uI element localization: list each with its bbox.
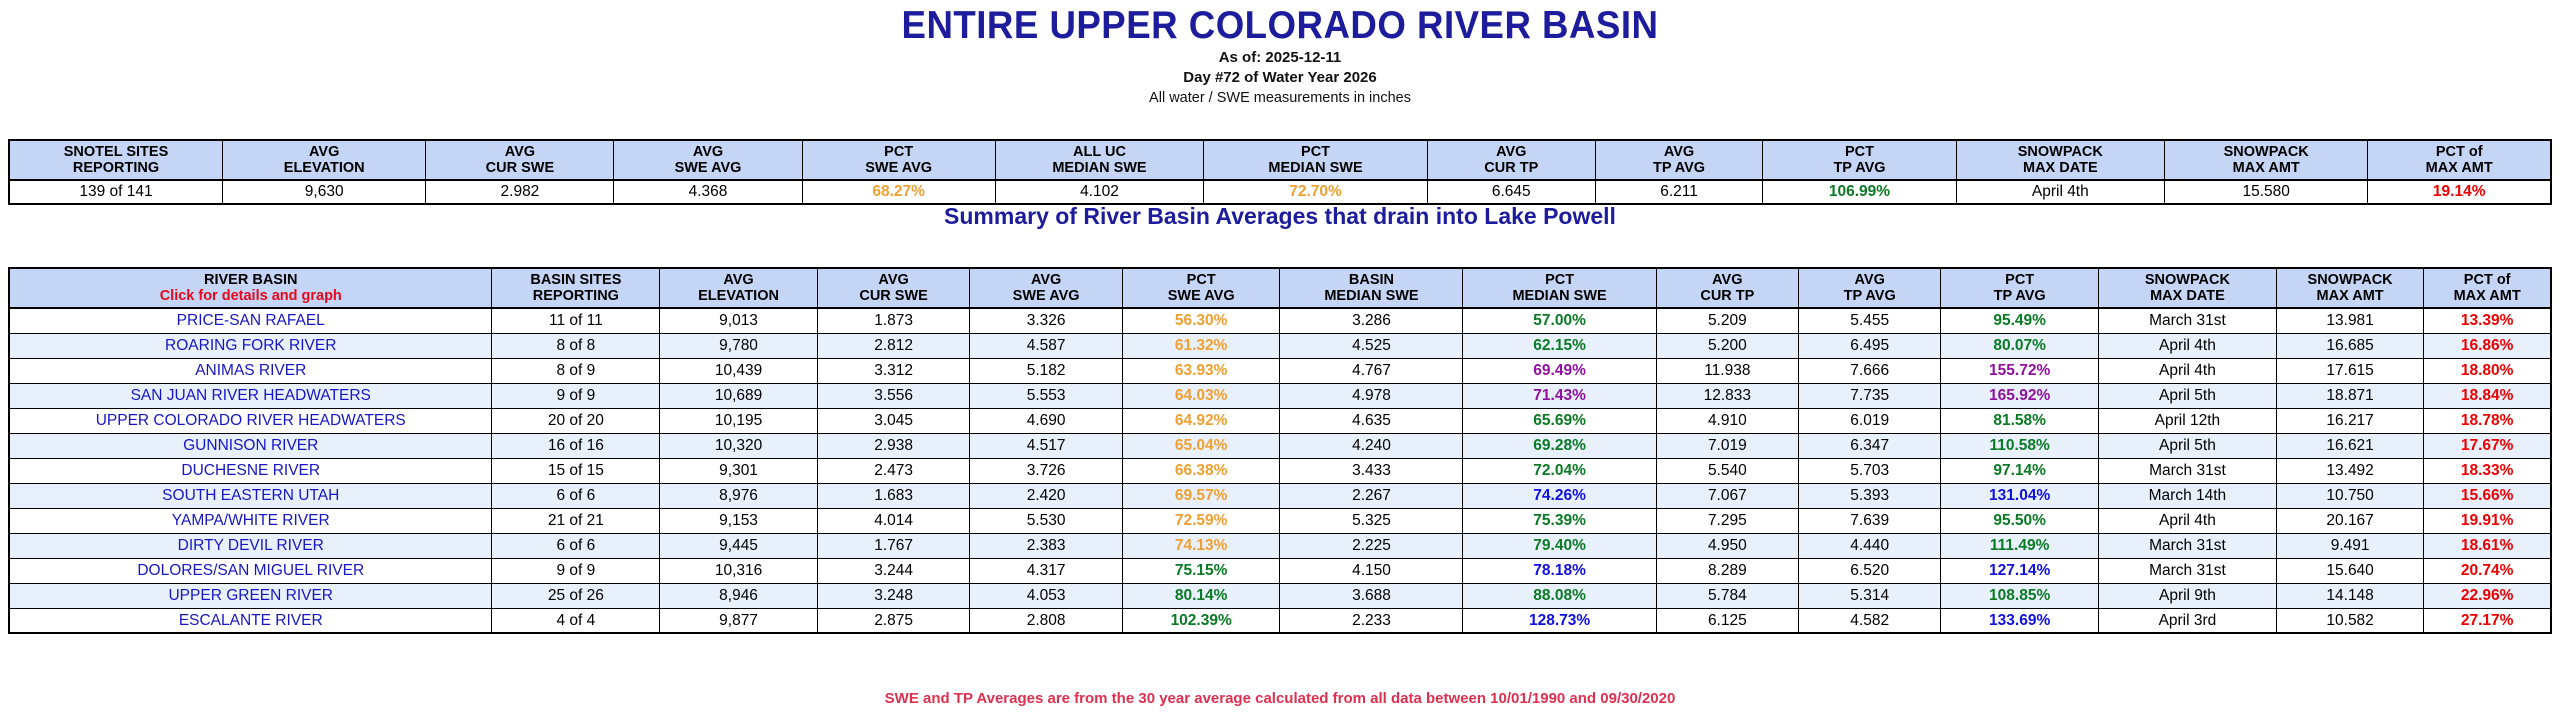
basin-cell-avg-cur-tp: 6.125 — [1656, 608, 1798, 633]
basin-col-pct-swe-avg-line-1: PCT — [1125, 272, 1278, 288]
basin-cell-pct-tp-avg-value: 108.85% — [1989, 587, 2050, 604]
summary-cell-avg-cur-swe-value: 2.982 — [501, 183, 540, 200]
basin-cell-pct-tp-avg: 81.58% — [1941, 408, 2099, 433]
basin-cell-avg-swe-avg: 3.326 — [970, 308, 1123, 333]
basin-cell-basin-sites-reporting-value: 6 of 6 — [556, 487, 595, 504]
basin-cell-pct-median-swe: 69.49% — [1463, 358, 1656, 383]
basin-cell-pct-swe-avg-value: 69.57% — [1175, 487, 1228, 504]
basin-cell-pct-median-swe: 71.43% — [1463, 383, 1656, 408]
basin-cell-avg-cur-swe: 3.248 — [817, 583, 970, 608]
basin-link[interactable]: DOLORES/SAN MIGUEL RIVER — [137, 562, 364, 579]
basin-cell-snowpack-max-date-value: March 31st — [2149, 462, 2226, 479]
summary-col-avg-tp-avg: AVGTP AVG — [1595, 140, 1763, 180]
basin-cell-pct-median-swe-value: 69.49% — [1533, 362, 1586, 379]
basin-col-pct-swe-avg: PCTSWE AVG — [1122, 268, 1280, 308]
summary-col-all-uc-median-swe-line-2: MEDIAN SWE — [998, 160, 1201, 176]
basin-cell-avg-swe-avg: 2.420 — [970, 483, 1123, 508]
table-row[interactable]: DIRTY DEVIL RIVER6 of 69,4451.7672.38374… — [9, 533, 2551, 558]
summary-col-avg-elevation: AVGELEVATION — [223, 140, 426, 180]
basin-col-avg-cur-swe: AVGCUR SWE — [817, 268, 970, 308]
basin-cell-avg-elevation-value: 10,439 — [715, 362, 762, 379]
basin-link[interactable]: DUCHESNE RIVER — [181, 462, 320, 479]
basin-cell-snowpack-max-date-value: March 14th — [2149, 487, 2227, 504]
summary-col-snotel-sites-reporting-line-2: REPORTING — [12, 160, 220, 176]
basin-cell-avg-tp-avg: 5.703 — [1799, 458, 1941, 483]
basin-cell-basin-median-swe: 2.225 — [1280, 533, 1463, 558]
basin-cell-avg-cur-swe: 3.556 — [817, 383, 970, 408]
basin-cell-snowpack-max-date: March 31st — [2098, 533, 2276, 558]
basin-cell-basin-median-swe: 4.767 — [1280, 358, 1463, 383]
basin-cell-pct-median-swe-value: 62.15% — [1533, 337, 1586, 354]
basin-name-cell[interactable]: UPPER COLORADO RIVER HEADWATERS — [9, 408, 492, 433]
basin-cell-snowpack-max-date: April 3rd — [2098, 608, 2276, 633]
basin-cell-pct-of-max-amt-value: 18.80% — [2461, 362, 2514, 379]
summary-col-avg-swe-avg-line-2: SWE AVG — [616, 160, 799, 176]
summary-cell-snowpack-max-amt-value: 15.580 — [2243, 183, 2290, 200]
table-row[interactable]: UPPER GREEN RIVER25 of 268,9463.2484.053… — [9, 583, 2551, 608]
basin-cell-pct-tp-avg: 165.92% — [1941, 383, 2099, 408]
basin-cell-snowpack-max-amt-value: 15.640 — [2326, 562, 2373, 579]
basin-cell-pct-swe-avg: 74.13% — [1122, 533, 1280, 558]
basin-cell-snowpack-max-amt-value: 13.981 — [2326, 312, 2373, 329]
basin-cell-snowpack-max-date: April 4th — [2098, 358, 2276, 383]
summary-cell-avg-tp-avg: 6.211 — [1595, 180, 1763, 204]
basin-cell-basin-median-swe: 2.267 — [1280, 483, 1463, 508]
basin-cell-avg-cur-swe: 3.312 — [817, 358, 970, 383]
basin-cell-avg-tp-avg-value: 5.703 — [1850, 462, 1889, 479]
basin-cell-snowpack-max-date: March 31st — [2098, 308, 2276, 333]
basin-col-avg-tp-avg-line-1: AVG — [1801, 272, 1938, 288]
basin-name-cell[interactable]: SOUTH EASTERN UTAH — [9, 483, 492, 508]
basin-cell-pct-swe-avg-value: 65.04% — [1175, 437, 1228, 454]
basin-cell-pct-of-max-amt: 18.80% — [2424, 358, 2551, 383]
basin-cell-avg-elevation-value: 9,013 — [719, 312, 758, 329]
basin-cell-basin-sites-reporting: 20 of 20 — [492, 408, 660, 433]
basin-cell-avg-cur-swe-value: 3.244 — [874, 562, 913, 579]
basin-name-cell[interactable]: GUNNISON RIVER — [9, 433, 492, 458]
click-for-details-note: Click for details and graph — [12, 288, 489, 304]
basin-cell-avg-cur-tp: 5.540 — [1656, 458, 1798, 483]
basin-cell-pct-of-max-amt: 13.39% — [2424, 308, 2551, 333]
basin-cell-pct-tp-avg-value: 80.07% — [1993, 337, 2046, 354]
summary-col-avg-cur-tp-line-2: CUR TP — [1430, 160, 1593, 176]
basin-cell-basin-median-swe: 5.325 — [1280, 508, 1463, 533]
basin-cell-avg-cur-swe-value: 4.014 — [874, 512, 913, 529]
table-row[interactable]: PRICE-SAN RAFAEL11 of 119,0131.8733.3265… — [9, 308, 2551, 333]
table-row[interactable]: DOLORES/SAN MIGUEL RIVER9 of 910,3163.24… — [9, 558, 2551, 583]
basin-name-cell[interactable]: ROARING FORK RIVER — [9, 333, 492, 358]
basin-cell-avg-tp-avg-value: 7.735 — [1850, 387, 1889, 404]
basin-cell-avg-swe-avg: 4.517 — [970, 433, 1123, 458]
basin-col-pct-median-swe-line-1: PCT — [1465, 272, 1653, 288]
table-row[interactable]: SOUTH EASTERN UTAH6 of 68,9761.6832.4206… — [9, 483, 2551, 508]
basin-cell-avg-swe-avg-value: 4.517 — [1027, 437, 1066, 454]
basin-cell-avg-cur-swe: 4.014 — [817, 508, 970, 533]
basin-col-avg-cur-tp: AVGCUR TP — [1656, 268, 1798, 308]
summary-col-pct-of-max-amt: PCT ofMAX AMT — [2368, 140, 2551, 180]
basin-cell-pct-of-max-amt: 19.91% — [2424, 508, 2551, 533]
summary-cell-avg-cur-tp: 6.645 — [1427, 180, 1595, 204]
basin-cell-basin-sites-reporting-value: 15 of 15 — [548, 462, 604, 479]
table-row[interactable]: YAMPA/WHITE RIVER21 of 219,1534.0145.530… — [9, 508, 2551, 533]
basin-cell-pct-of-max-amt-value: 27.17% — [2461, 612, 2514, 629]
basin-cell-basin-sites-reporting: 8 of 8 — [492, 333, 660, 358]
basin-col-snowpack-max-amt-line-1: SNOWPACK — [2279, 272, 2421, 288]
summary-col-snotel-sites-reporting: SNOTEL SITESREPORTING — [9, 140, 223, 180]
basin-col-pct-of-max-amt: PCT ofMAX AMT — [2424, 268, 2551, 308]
basin-cell-pct-tp-avg: 111.49% — [1941, 533, 2099, 558]
basin-col-pct-of-max-amt-line-2: MAX AMT — [2426, 288, 2548, 304]
basin-cell-avg-swe-avg-value: 5.553 — [1027, 387, 1066, 404]
basin-cell-avg-cur-tp-value: 5.784 — [1708, 587, 1747, 604]
summary-col-avg-tp-avg-line-2: TP AVG — [1598, 160, 1761, 176]
basin-cell-avg-tp-avg: 4.440 — [1799, 533, 1941, 558]
basin-cell-pct-median-swe: 69.28% — [1463, 433, 1656, 458]
basin-cell-pct-median-swe-value: 128.73% — [1529, 612, 1590, 629]
basin-col-avg-tp-avg-line-2: TP AVG — [1801, 288, 1938, 304]
basin-cell-pct-of-max-amt-value: 18.61% — [2461, 537, 2514, 554]
basin-cell-basin-sites-reporting-value: 11 of 11 — [549, 312, 603, 329]
basin-cell-snowpack-max-date: April 12th — [2098, 408, 2276, 433]
basin-cell-snowpack-max-amt: 9.491 — [2276, 533, 2423, 558]
basin-cell-avg-cur-tp-value: 4.910 — [1708, 412, 1747, 429]
table-row[interactable]: UPPER COLORADO RIVER HEADWATERS20 of 201… — [9, 408, 2551, 433]
basin-cell-pct-of-max-amt: 16.86% — [2424, 333, 2551, 358]
basin-cell-avg-swe-avg: 3.726 — [970, 458, 1123, 483]
basin-cell-avg-cur-tp-value: 7.067 — [1708, 487, 1747, 504]
summary-table-head: SNOTEL SITESREPORTINGAVGELEVATIONAVGCUR … — [9, 140, 2551, 180]
basin-cell-pct-median-swe: 74.26% — [1463, 483, 1656, 508]
basin-col-pct-tp-avg-line-1: PCT — [1943, 272, 2096, 288]
basin-cell-pct-tp-avg: 133.69% — [1941, 608, 2099, 633]
basin-cell-basin-sites-reporting: 16 of 16 — [492, 433, 660, 458]
basin-cell-basin-sites-reporting: 15 of 15 — [492, 458, 660, 483]
basin-name-cell[interactable]: ANIMAS RIVER — [9, 358, 492, 383]
basin-cell-pct-tp-avg: 155.72% — [1941, 358, 2099, 383]
basin-cell-avg-tp-avg: 5.455 — [1799, 308, 1941, 333]
basin-cell-pct-of-max-amt: 15.66% — [2424, 483, 2551, 508]
basin-cell-snowpack-max-amt-value: 17.615 — [2326, 362, 2373, 379]
basin-cell-avg-cur-tp-value: 8.289 — [1708, 562, 1747, 579]
table-row[interactable]: ANIMAS RIVER8 of 910,4393.3125.18263.93%… — [9, 358, 2551, 383]
basin-cell-snowpack-max-amt-value: 14.148 — [2326, 587, 2373, 604]
basin-cell-avg-cur-tp-value: 5.209 — [1708, 312, 1747, 329]
basin-table: RIVER BASINClick for details and graphBA… — [8, 267, 2552, 634]
table-row[interactable]: GUNNISON RIVER16 of 1610,3202.9384.51765… — [9, 433, 2551, 458]
basin-name-cell[interactable]: DUCHESNE RIVER — [9, 458, 492, 483]
basin-cell-snowpack-max-amt: 13.492 — [2276, 458, 2423, 483]
basin-cell-avg-elevation-value: 9,153 — [719, 512, 758, 529]
basin-cell-snowpack-max-date: April 5th — [2098, 383, 2276, 408]
basin-cell-basin-median-swe-value: 2.267 — [1352, 487, 1391, 504]
basin-cell-pct-tp-avg-value: 81.58% — [1993, 412, 2046, 429]
basin-link[interactable]: UPPER GREEN RIVER — [168, 587, 333, 604]
basin-cell-avg-cur-swe-value: 1.767 — [874, 537, 913, 554]
basin-cell-snowpack-max-amt: 16.621 — [2276, 433, 2423, 458]
table-row[interactable]: ESCALANTE RIVER4 of 49,8772.8752.808102.… — [9, 608, 2551, 633]
basin-cell-avg-swe-avg: 5.182 — [970, 358, 1123, 383]
basin-cell-snowpack-max-amt-value: 10.750 — [2326, 487, 2373, 504]
summary-col-avg-cur-swe-line-1: AVG — [428, 144, 611, 160]
basin-cell-pct-swe-avg-value: 75.15% — [1175, 562, 1228, 579]
basin-cell-basin-median-swe-value: 3.286 — [1352, 312, 1391, 329]
basin-cell-basin-sites-reporting: 8 of 9 — [492, 358, 660, 383]
basin-cell-avg-cur-tp: 4.910 — [1656, 408, 1798, 433]
basin-cell-pct-swe-avg: 102.39% — [1122, 608, 1280, 633]
basin-cell-avg-cur-swe: 2.938 — [817, 433, 970, 458]
basin-cell-avg-cur-tp-value: 7.295 — [1708, 512, 1747, 529]
basin-link[interactable]: GUNNISON RIVER — [183, 437, 318, 454]
basin-cell-pct-of-max-amt: 18.84% — [2424, 383, 2551, 408]
basin-cell-avg-tp-avg: 7.735 — [1799, 383, 1941, 408]
basin-cell-avg-cur-swe: 2.812 — [817, 333, 970, 358]
basin-cell-avg-elevation-value: 8,946 — [719, 587, 758, 604]
basin-cell-basin-median-swe: 3.688 — [1280, 583, 1463, 608]
summary-cell-pct-swe-avg-value: 68.27% — [872, 183, 925, 200]
basin-name-cell[interactable]: ESCALANTE RIVER — [9, 608, 492, 633]
basin-col-pct-median-swe: PCTMEDIAN SWE — [1463, 268, 1656, 308]
basin-cell-avg-swe-avg-value: 4.690 — [1027, 412, 1066, 429]
basin-cell-avg-cur-swe: 2.875 — [817, 608, 970, 633]
summary-cell-pct-tp-avg-value: 106.99% — [1829, 183, 1890, 200]
basin-cell-pct-median-swe: 65.69% — [1463, 408, 1656, 433]
basin-cell-avg-tp-avg-value: 6.347 — [1850, 437, 1889, 454]
basin-cell-pct-median-swe-value: 57.00% — [1533, 312, 1586, 329]
basin-cell-avg-elevation: 9,013 — [660, 308, 818, 333]
basin-cell-pct-median-swe-value: 69.28% — [1533, 437, 1586, 454]
basin-cell-basin-median-swe-value: 3.433 — [1352, 462, 1391, 479]
summary-col-pct-tp-avg-line-1: PCT — [1765, 144, 1953, 160]
basin-cell-pct-tp-avg: 95.49% — [1941, 308, 2099, 333]
basin-cell-basin-median-swe-value: 4.767 — [1352, 362, 1391, 379]
basin-cell-avg-elevation: 10,195 — [660, 408, 818, 433]
table-row[interactable]: DUCHESNE RIVER15 of 159,3012.4733.72666.… — [9, 458, 2551, 483]
basin-cell-avg-cur-swe-value: 2.938 — [874, 437, 913, 454]
basin-cell-avg-elevation: 9,780 — [660, 333, 818, 358]
basin-cell-basin-median-swe-value: 2.225 — [1352, 537, 1391, 554]
basin-cell-avg-elevation: 9,445 — [660, 533, 818, 558]
basin-link[interactable]: UPPER COLORADO RIVER HEADWATERS — [96, 412, 406, 429]
summary-col-avg-swe-avg: AVGSWE AVG — [614, 140, 802, 180]
basin-link[interactable]: ESCALANTE RIVER — [179, 612, 323, 629]
basin-cell-pct-of-max-amt: 18.61% — [2424, 533, 2551, 558]
basin-col-avg-elevation-line-1: AVG — [662, 272, 815, 288]
basin-cell-avg-swe-avg: 5.553 — [970, 383, 1123, 408]
basin-cell-avg-swe-avg: 4.587 — [970, 333, 1123, 358]
basin-cell-basin-median-swe-value: 4.978 — [1352, 387, 1391, 404]
summary-col-all-uc-median-swe: ALL UCMEDIAN SWE — [995, 140, 1203, 180]
basin-cell-avg-elevation: 10,316 — [660, 558, 818, 583]
basin-cell-pct-of-max-amt: 18.78% — [2424, 408, 2551, 433]
basin-cell-avg-swe-avg: 4.317 — [970, 558, 1123, 583]
basin-cell-avg-cur-swe-value: 2.875 — [874, 612, 913, 629]
basin-cell-avg-tp-avg-value: 5.314 — [1850, 587, 1889, 604]
basin-cell-pct-swe-avg: 64.92% — [1122, 408, 1280, 433]
summary-col-snotel-sites-reporting-line-1: SNOTEL SITES — [12, 144, 220, 160]
basin-col-snowpack-max-date: SNOWPACKMAX DATE — [2098, 268, 2276, 308]
basin-cell-snowpack-max-date-value: March 31st — [2149, 537, 2226, 554]
basin-cell-basin-sites-reporting-value: 6 of 6 — [556, 537, 595, 554]
summary-cell-pct-tp-avg: 106.99% — [1763, 180, 1956, 204]
basin-cell-avg-tp-avg: 7.666 — [1799, 358, 1941, 383]
basin-col-avg-swe-avg-line-1: AVG — [972, 272, 1120, 288]
page-root: ENTIRE UPPER COLORADO RIVER BASIN As of:… — [0, 0, 2560, 720]
basin-col-basin-median-swe: BASINMEDIAN SWE — [1280, 268, 1463, 308]
summary-cell-all-uc-median-swe-value: 4.102 — [1080, 183, 1119, 200]
basin-cell-pct-swe-avg-value: 72.59% — [1175, 512, 1228, 529]
basin-name-cell[interactable]: PRICE-SAN RAFAEL — [9, 308, 492, 333]
basin-cell-pct-swe-avg-value: 74.13% — [1175, 537, 1228, 554]
basin-cell-pct-median-swe: 72.04% — [1463, 458, 1656, 483]
basin-cell-avg-cur-tp-value: 11.938 — [1704, 362, 1750, 379]
basin-cell-pct-median-swe: 57.00% — [1463, 308, 1656, 333]
summary-col-avg-swe-avg-line-1: AVG — [616, 144, 799, 160]
basin-link[interactable]: DIRTY DEVIL RIVER — [178, 537, 324, 554]
summary-col-avg-cur-tp: AVGCUR TP — [1427, 140, 1595, 180]
basin-cell-basin-median-swe: 3.286 — [1280, 308, 1463, 333]
basin-header-row: RIVER BASINClick for details and graphBA… — [9, 268, 2551, 308]
basin-link[interactable]: ANIMAS RIVER — [195, 362, 306, 379]
title-block: ENTIRE UPPER COLORADO RIVER BASIN As of:… — [0, 0, 2560, 107]
basin-name-cell[interactable]: DOLORES/SAN MIGUEL RIVER — [9, 558, 492, 583]
basin-name-cell[interactable]: SAN JUAN RIVER HEADWATERS — [9, 383, 492, 408]
basin-cell-pct-tp-avg: 127.14% — [1941, 558, 2099, 583]
basin-cell-pct-of-max-amt: 22.96% — [2424, 583, 2551, 608]
basin-cell-snowpack-max-amt: 15.640 — [2276, 558, 2423, 583]
basin-cell-basin-sites-reporting-value: 21 of 21 — [548, 512, 604, 529]
basin-col-river-basin-line-1: RIVER BASIN — [12, 272, 489, 288]
basin-cell-pct-swe-avg: 66.38% — [1122, 458, 1280, 483]
summary-cell-pct-of-max-amt-value: 19.14% — [2433, 183, 2486, 200]
basin-cell-pct-tp-avg: 108.85% — [1941, 583, 2099, 608]
basin-cell-basin-sites-reporting-value: 20 of 20 — [548, 412, 604, 429]
basin-cell-avg-elevation: 10,439 — [660, 358, 818, 383]
basin-cell-pct-swe-avg: 63.93% — [1122, 358, 1280, 383]
basin-cell-snowpack-max-amt: 10.750 — [2276, 483, 2423, 508]
basin-cell-avg-tp-avg-value: 4.582 — [1850, 612, 1889, 629]
basin-name-cell[interactable]: YAMPA/WHITE RIVER — [9, 508, 492, 533]
basin-cell-basin-median-swe-value: 2.233 — [1352, 612, 1391, 629]
basin-cell-snowpack-max-date-value: April 9th — [2159, 587, 2216, 604]
basin-cell-pct-of-max-amt-value: 22.96% — [2461, 587, 2514, 604]
basin-cell-avg-cur-swe-value: 1.683 — [874, 487, 913, 504]
basin-cell-pct-median-swe: 78.18% — [1463, 558, 1656, 583]
basin-cell-pct-swe-avg: 56.30% — [1122, 308, 1280, 333]
basin-col-avg-swe-avg-line-2: SWE AVG — [972, 288, 1120, 304]
summary-col-avg-cur-tp-line-1: AVG — [1430, 144, 1593, 160]
basin-cell-pct-of-max-amt-value: 15.66% — [2461, 487, 2514, 504]
basin-cell-snowpack-max-amt-value: 13.492 — [2326, 462, 2373, 479]
basin-cell-basin-median-swe-value: 3.688 — [1352, 587, 1391, 604]
summary-cell-pct-median-swe-value: 72.70% — [1289, 183, 1342, 200]
basin-cell-basin-sites-reporting: 21 of 21 — [492, 508, 660, 533]
basin-cell-snowpack-max-amt: 20.167 — [2276, 508, 2423, 533]
basin-cell-snowpack-max-date: April 9th — [2098, 583, 2276, 608]
basin-cell-pct-swe-avg-value: 64.03% — [1175, 387, 1228, 404]
basin-name-cell[interactable]: UPPER GREEN RIVER — [9, 583, 492, 608]
basin-col-avg-cur-tp-line-1: AVG — [1659, 272, 1796, 288]
basin-link[interactable]: PRICE-SAN RAFAEL — [177, 312, 325, 329]
basin-link[interactable]: SOUTH EASTERN UTAH — [162, 487, 339, 504]
basin-cell-basin-median-swe: 4.635 — [1280, 408, 1463, 433]
summary-col-all-uc-median-swe-line-1: ALL UC — [998, 144, 1201, 160]
basin-cell-basin-median-swe: 2.233 — [1280, 608, 1463, 633]
basin-name-cell[interactable]: DIRTY DEVIL RIVER — [9, 533, 492, 558]
basin-cell-pct-tp-avg-value: 95.49% — [1993, 312, 2046, 329]
basin-col-basin-median-swe-line-1: BASIN — [1282, 272, 1460, 288]
basin-cell-avg-swe-avg-value: 3.326 — [1027, 312, 1066, 329]
summary-cell-avg-elevation: 9,630 — [223, 180, 426, 204]
basin-col-avg-tp-avg: AVGTP AVG — [1799, 268, 1941, 308]
basin-cell-avg-tp-avg: 5.314 — [1799, 583, 1941, 608]
basin-cell-avg-cur-tp: 5.200 — [1656, 333, 1798, 358]
summary-col-pct-tp-avg: PCTTP AVG — [1763, 140, 1956, 180]
basin-cell-pct-of-max-amt: 17.67% — [2424, 433, 2551, 458]
basin-cell-basin-sites-reporting: 11 of 11 — [492, 308, 660, 333]
basin-col-river-basin: RIVER BASINClick for details and graph — [9, 268, 492, 308]
basin-cell-avg-tp-avg-value: 7.666 — [1850, 362, 1889, 379]
basin-cell-avg-tp-avg: 6.520 — [1799, 558, 1941, 583]
basin-cell-avg-tp-avg-value: 5.393 — [1850, 487, 1889, 504]
basin-cell-avg-elevation-value: 10,195 — [715, 412, 762, 429]
summary-cell-avg-cur-swe: 2.982 — [426, 180, 614, 204]
basin-cell-basin-median-swe: 4.150 — [1280, 558, 1463, 583]
basin-col-basin-sites-reporting-line-1: BASIN SITES — [494, 272, 657, 288]
basin-cell-avg-tp-avg-value: 6.019 — [1850, 412, 1889, 429]
footer-note: SWE and TP Averages are from the 30 year… — [0, 690, 2560, 707]
basin-cell-avg-cur-tp: 7.019 — [1656, 433, 1798, 458]
basin-cell-avg-tp-avg-value: 7.639 — [1850, 512, 1889, 529]
basin-cell-pct-of-max-amt-value: 17.67% — [2461, 437, 2514, 454]
summary-col-pct-tp-avg-line-2: TP AVG — [1765, 160, 1953, 176]
basin-cell-avg-cur-tp: 7.295 — [1656, 508, 1798, 533]
summary-cell-snotel-sites-reporting-value: 139 of 141 — [79, 183, 152, 200]
basin-cell-pct-of-max-amt-value: 18.33% — [2461, 462, 2514, 479]
basin-table-head: RIVER BASINClick for details and graphBA… — [9, 268, 2551, 308]
basin-cell-pct-tp-avg-value: 97.14% — [1993, 462, 2046, 479]
summary-cell-avg-elevation-value: 9,630 — [305, 183, 344, 200]
basin-cell-pct-swe-avg-value: 63.93% — [1175, 362, 1228, 379]
basin-cell-pct-of-max-amt-value: 13.39% — [2461, 312, 2514, 329]
basin-cell-pct-swe-avg: 80.14% — [1122, 583, 1280, 608]
basin-link[interactable]: ROARING FORK RIVER — [165, 337, 336, 354]
basin-cell-basin-median-swe-value: 4.525 — [1352, 337, 1391, 354]
table-row[interactable]: SAN JUAN RIVER HEADWATERS9 of 910,6893.5… — [9, 383, 2551, 408]
basin-cell-pct-median-swe: 128.73% — [1463, 608, 1656, 633]
basin-col-basin-sites-reporting-line-2: REPORTING — [494, 288, 657, 304]
basin-col-avg-cur-swe-line-2: CUR SWE — [820, 288, 968, 304]
basin-cell-snowpack-max-date-value: April 12th — [2155, 412, 2220, 429]
summary-col-pct-swe-avg: PCTSWE AVG — [802, 140, 995, 180]
summary-cell-all-uc-median-swe: 4.102 — [995, 180, 1203, 204]
basin-cell-avg-swe-avg: 4.690 — [970, 408, 1123, 433]
basin-cell-avg-tp-avg-value: 5.455 — [1850, 312, 1889, 329]
basin-cell-basin-median-swe-value: 5.325 — [1352, 512, 1391, 529]
basin-cell-basin-sites-reporting: 9 of 9 — [492, 558, 660, 583]
basin-cell-snowpack-max-amt-value: 16.685 — [2326, 337, 2373, 354]
table-row[interactable]: ROARING FORK RIVER8 of 89,7802.8124.5876… — [9, 333, 2551, 358]
water-year-day: Day #72 of Water Year 2026 — [0, 69, 2560, 87]
basin-link[interactable]: YAMPA/WHITE RIVER — [172, 512, 330, 529]
basin-cell-pct-tp-avg-value: 127.14% — [1989, 562, 2050, 579]
basin-cell-pct-of-max-amt-value: 19.91% — [2461, 512, 2514, 529]
basin-cell-avg-cur-tp-value: 12.833 — [1704, 387, 1751, 404]
basin-cell-snowpack-max-date: March 31st — [2098, 558, 2276, 583]
basin-cell-avg-cur-swe-value: 3.556 — [874, 387, 913, 404]
basin-cell-basin-median-swe: 4.240 — [1280, 433, 1463, 458]
basin-link[interactable]: SAN JUAN RIVER HEADWATERS — [131, 387, 371, 404]
summary-col-pct-median-swe-line-1: PCT — [1206, 144, 1425, 160]
